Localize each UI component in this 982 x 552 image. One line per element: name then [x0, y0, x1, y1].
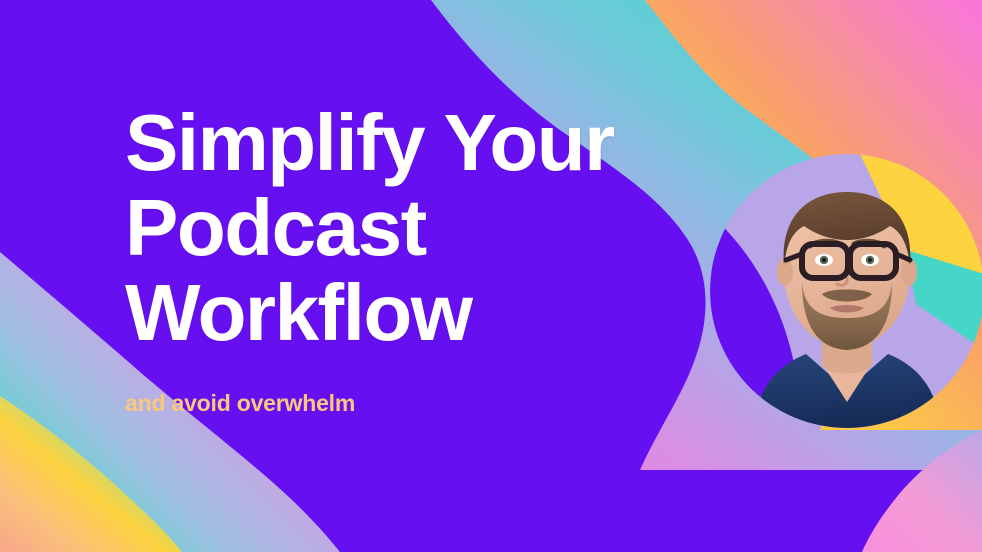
avatar-pupil-left — [822, 258, 826, 262]
title-slide: Simplify Your Podcast Workflow and avoid… — [0, 0, 982, 552]
avatar-portrait — [710, 154, 982, 428]
avatar-pupil-right — [868, 258, 872, 262]
subtitle: and avoid overwhelm — [125, 389, 685, 417]
title-text-block: Simplify Your Podcast Workflow and avoid… — [125, 100, 685, 417]
page-title: Simplify Your Podcast Workflow — [125, 100, 685, 355]
avatar — [710, 154, 982, 428]
